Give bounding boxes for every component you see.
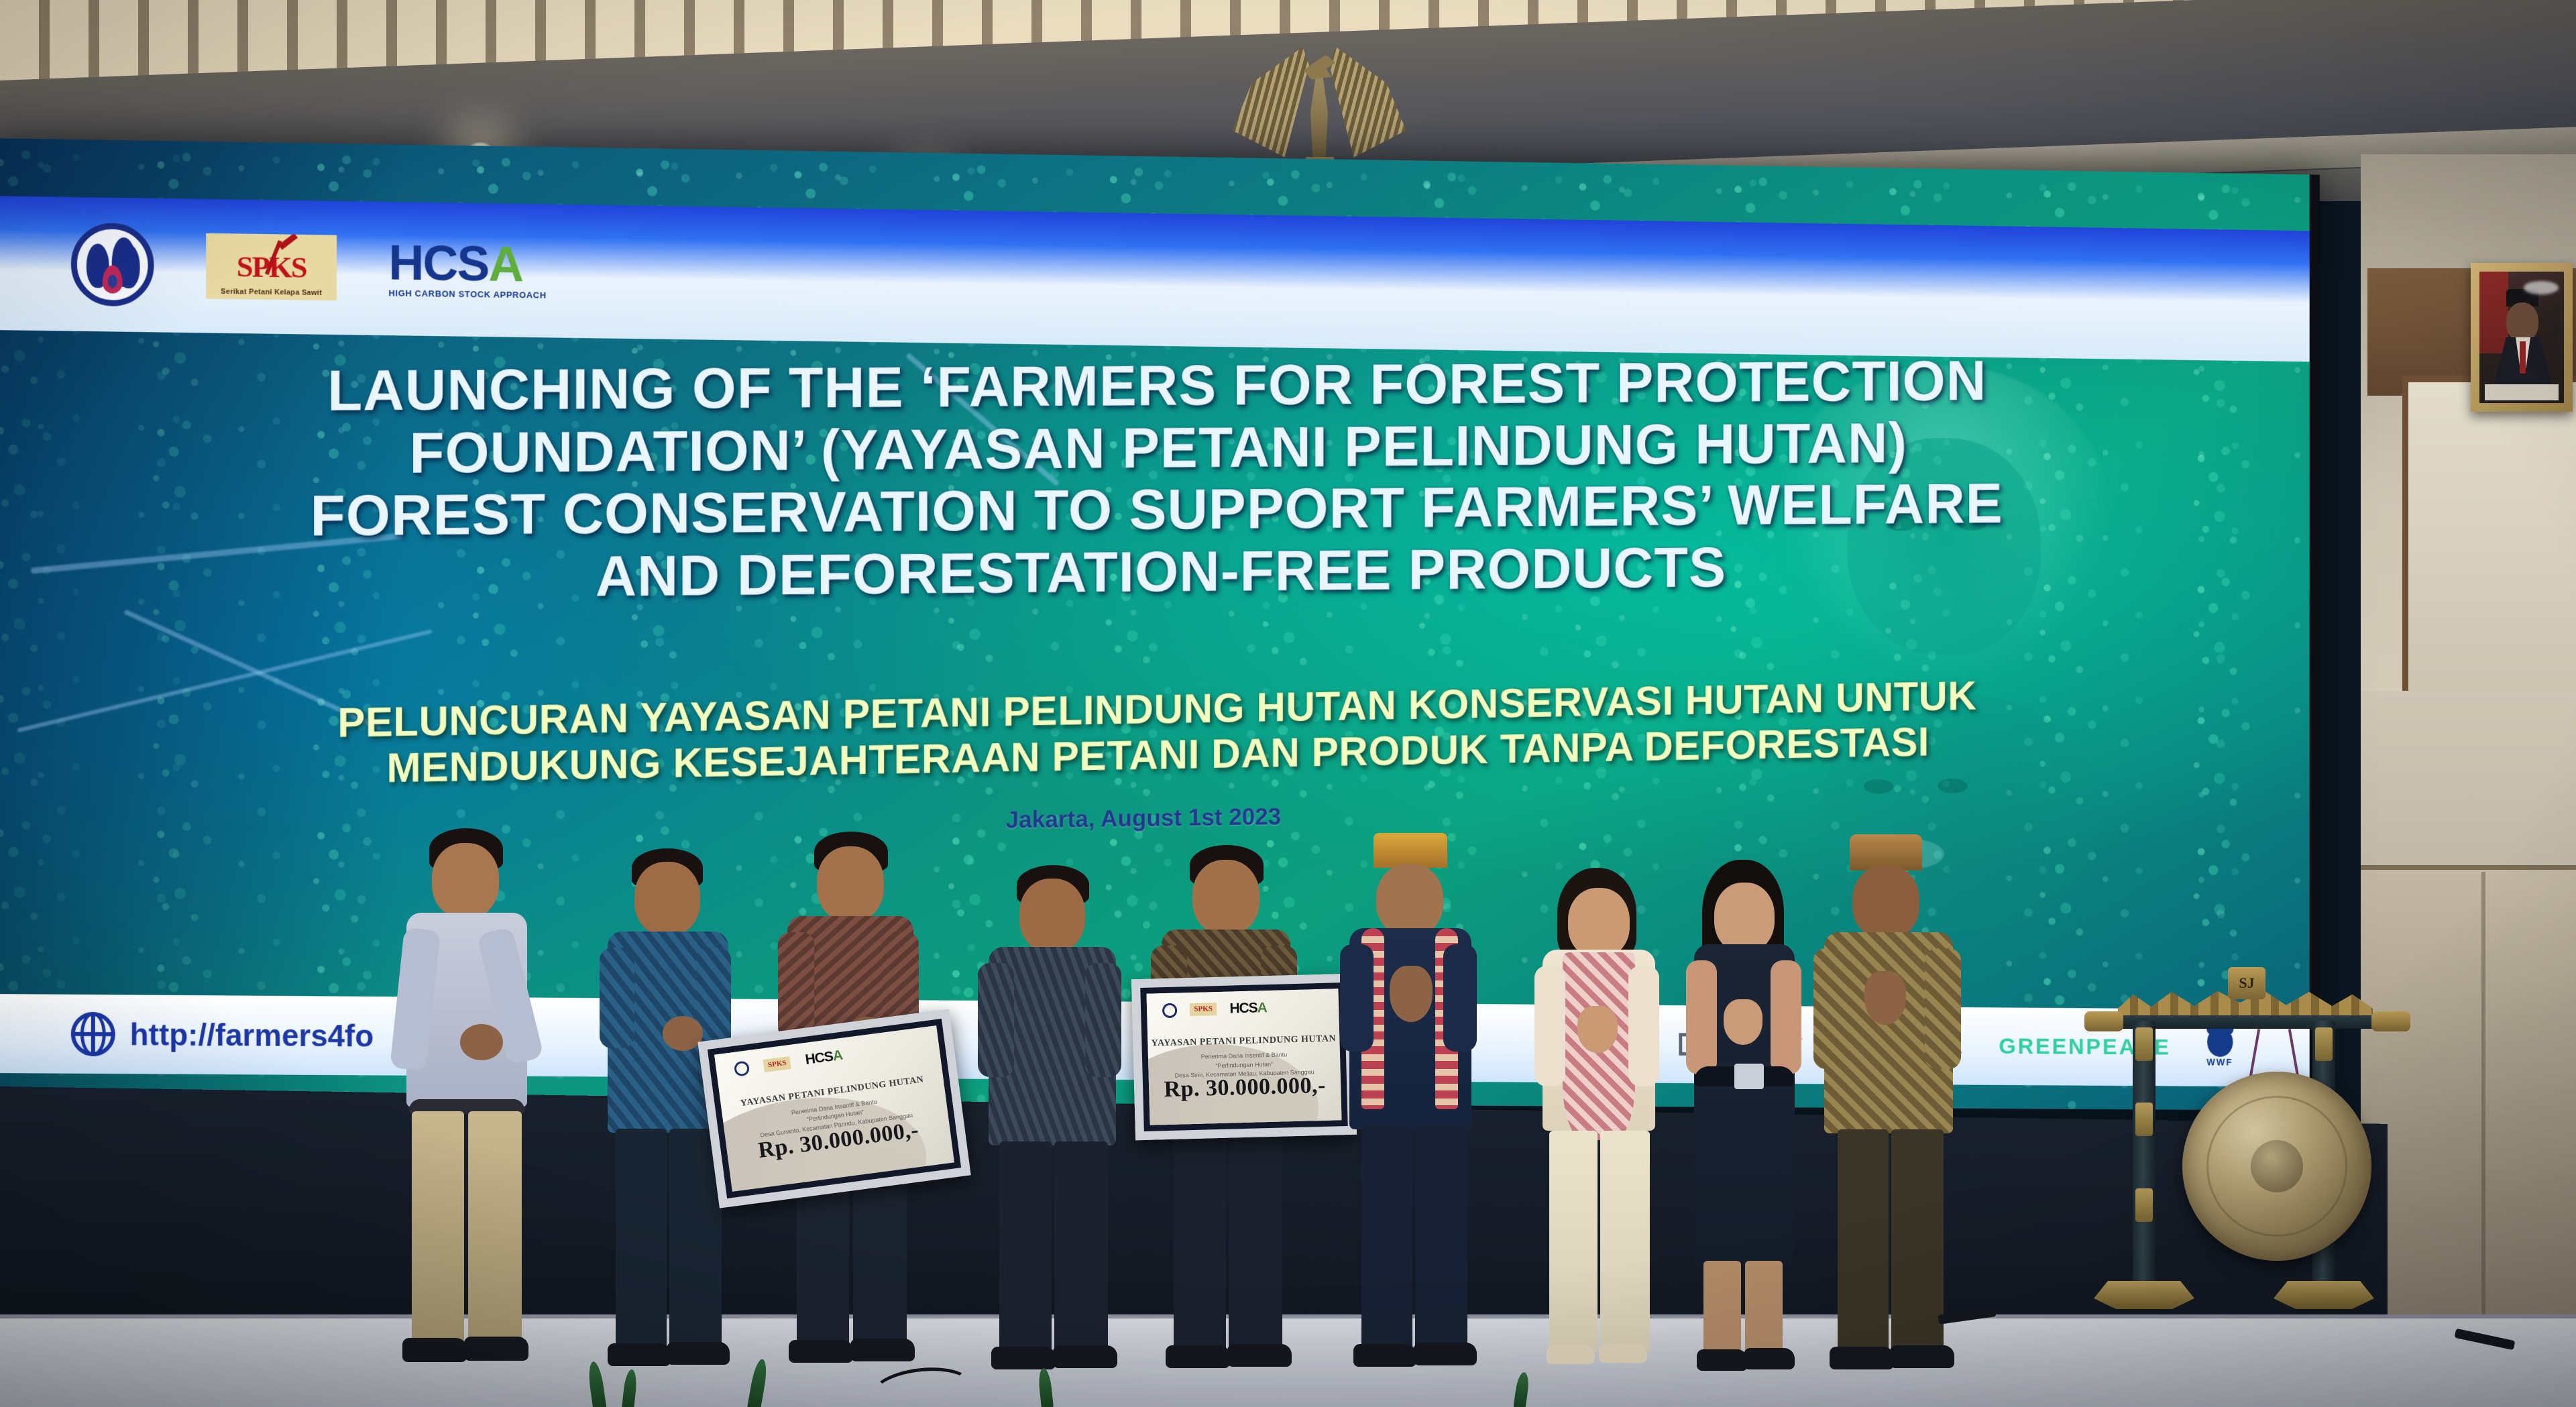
person-2-shoe-left bbox=[608, 1343, 671, 1366]
hcsa-logo-accent: A bbox=[488, 236, 522, 292]
person-1-hands bbox=[460, 1024, 503, 1060]
person-4-leg-right bbox=[1054, 1141, 1108, 1353]
person-5-shoe-left bbox=[1166, 1345, 1230, 1368]
person-9-shoe-left bbox=[1830, 1347, 1894, 1369]
person-8-leg-left bbox=[1703, 1261, 1741, 1356]
person-1-shoe-right bbox=[464, 1337, 528, 1361]
gong-post-left bbox=[2133, 1021, 2155, 1289]
person-6 bbox=[1335, 844, 1489, 1367]
gong-rope-right bbox=[2288, 1029, 2299, 1077]
person-3-arm-left bbox=[778, 932, 814, 1039]
person-2-shoe-right bbox=[667, 1342, 730, 1365]
person-7-hands-clapping bbox=[1577, 1006, 1618, 1053]
person-8-arm-left bbox=[1686, 960, 1717, 1074]
person-6-head bbox=[1376, 864, 1443, 936]
website-url: http://farmers4fo bbox=[130, 1016, 374, 1054]
ministry-emblem-icon bbox=[71, 223, 154, 307]
plaque-1-hcsa-logo: HCSA bbox=[804, 1048, 843, 1068]
person-6-arm-right bbox=[1443, 944, 1477, 1052]
person-2-arm-left bbox=[600, 948, 634, 1048]
person-8-shoe-left bbox=[1697, 1349, 1748, 1371]
person-6-headdress bbox=[1374, 833, 1447, 868]
person-8-hands-clapping bbox=[1724, 999, 1762, 1045]
person-6-shoe-right bbox=[1414, 1343, 1477, 1365]
person-8 bbox=[1670, 865, 1814, 1375]
person-9-head bbox=[1852, 865, 1919, 939]
person-4-arm-left bbox=[978, 963, 1014, 1077]
person-4-head bbox=[1019, 879, 1085, 952]
person-3-shoe-right bbox=[850, 1339, 915, 1361]
wall-seam bbox=[2481, 872, 2485, 1335]
person-5-leg-left bbox=[1174, 1127, 1226, 1352]
person-6-leg-left bbox=[1361, 1125, 1412, 1351]
person-8-buckle bbox=[1734, 1064, 1764, 1089]
person-9-hands-greeting bbox=[1864, 971, 1906, 1025]
person-7-arm-left bbox=[1534, 966, 1565, 1086]
ceremonial-gong: SJ bbox=[2098, 947, 2393, 1336]
gong-rope-left bbox=[2249, 1029, 2260, 1077]
person-4-leg-left bbox=[999, 1141, 1052, 1353]
hcsa-logo-tagline: HIGH CARBON STOCK APPROACH bbox=[388, 288, 546, 300]
person-6-shoe-left bbox=[1353, 1344, 1416, 1367]
person-9 bbox=[1811, 846, 1968, 1369]
plaque-2-hcsa-logo: HCSA bbox=[1229, 1000, 1267, 1017]
person-8-arm-right bbox=[1771, 960, 1801, 1074]
plaque-1-ministry-icon bbox=[733, 1061, 750, 1078]
plaque-1: SPKS HCSA YAYASAN PETANI PELINDUNG HUTAN… bbox=[697, 1009, 970, 1208]
framed-official-portrait bbox=[2471, 263, 2573, 412]
person-6-hands-greeting bbox=[1390, 966, 1433, 1022]
person-4-arm-right bbox=[1085, 963, 1121, 1077]
person-7-arm-right bbox=[1628, 966, 1659, 1086]
plaque-2: SPKS HCSA YAYASAN PETANI PELINDUNG HUTAN… bbox=[1131, 974, 1357, 1141]
person-8-head bbox=[1714, 883, 1775, 952]
screen-datestamp: Jakarta, August 1st 2023 bbox=[1005, 803, 1281, 834]
gong-crossbar-cap-left bbox=[2084, 1011, 2123, 1031]
person-8-shoe-right bbox=[1744, 1348, 1795, 1369]
person-4-shoe-left bbox=[991, 1347, 1056, 1369]
person-4-shoe-right bbox=[1053, 1345, 1117, 1368]
plaque-2-amount: Rp. 30.000.000,- bbox=[1149, 1073, 1341, 1103]
wall-wainscot bbox=[2361, 865, 2576, 1335]
website-item: http://farmers4fo bbox=[71, 1012, 374, 1058]
person-6-arm-left bbox=[1340, 944, 1374, 1052]
plaque-2-spks-logo: SPKS bbox=[1190, 1003, 1217, 1016]
gong-foot-left bbox=[2094, 1281, 2194, 1309]
globe-icon bbox=[71, 1012, 115, 1056]
person-7-leg-left bbox=[1549, 1131, 1598, 1352]
wall-panel bbox=[2402, 376, 2576, 691]
person-3-shoe-left bbox=[789, 1340, 853, 1363]
person-6-leg-right bbox=[1415, 1125, 1467, 1351]
person-5-head bbox=[1192, 860, 1259, 935]
person-1-head bbox=[432, 843, 499, 918]
person-1-leg-left bbox=[412, 1111, 464, 1345]
gong-foot-right bbox=[2274, 1281, 2374, 1309]
gong-sj-monogram: SJ bbox=[2228, 967, 2265, 999]
person-8-leg-right bbox=[1745, 1261, 1783, 1356]
person-9-arm-left bbox=[1813, 948, 1850, 1069]
person-2-leg-left bbox=[616, 1129, 667, 1350]
person-7-shoe-right bbox=[1599, 1344, 1647, 1363]
screen-headline: LAUNCHING OF THE ‘FARMERS FOR FOREST PRO… bbox=[192, 350, 2116, 612]
person-2-hands bbox=[663, 1016, 703, 1051]
person-7 bbox=[1521, 872, 1672, 1368]
person-4 bbox=[972, 865, 1133, 1368]
gong-crossbar-cap-right bbox=[2371, 1011, 2410, 1031]
person-1-leg-right bbox=[468, 1111, 522, 1345]
person-5-leg-right bbox=[1229, 1127, 1282, 1352]
plaque-1-spks-logo: SPKS bbox=[763, 1056, 791, 1072]
person-9-leg-left bbox=[1838, 1129, 1889, 1353]
person-7-shoe-left bbox=[1547, 1345, 1595, 1364]
person-9-shoe-right bbox=[1890, 1345, 1954, 1368]
person-1 bbox=[382, 828, 550, 1358]
person-2-head bbox=[634, 862, 700, 936]
spks-logo-tagline: Serikat Petani Kelapa Sawit bbox=[206, 288, 337, 298]
person-7-leg-right bbox=[1600, 1131, 1650, 1352]
hcsa-logo-main: HCS bbox=[388, 235, 488, 292]
plaque-2-ministry-icon bbox=[1162, 1003, 1178, 1018]
person-5-shoe-right bbox=[1227, 1344, 1292, 1367]
gong-disc bbox=[2182, 1072, 2371, 1261]
person-1-shoe-left bbox=[402, 1338, 467, 1362]
spks-logo: SPKS Serikat Petani Kelapa Sawit bbox=[206, 233, 337, 301]
person-9-leg-right bbox=[1891, 1129, 1944, 1353]
person-7-head bbox=[1568, 888, 1630, 958]
photo-scene: SPKS Serikat Petani Kelapa Sawit HCSA HI… bbox=[0, 0, 2576, 1407]
person-3-head bbox=[817, 846, 884, 921]
hcsa-logo: HCSA HIGH CARBON STOCK APPROACH bbox=[388, 239, 546, 300]
person-9-arm-right bbox=[1925, 948, 1961, 1069]
